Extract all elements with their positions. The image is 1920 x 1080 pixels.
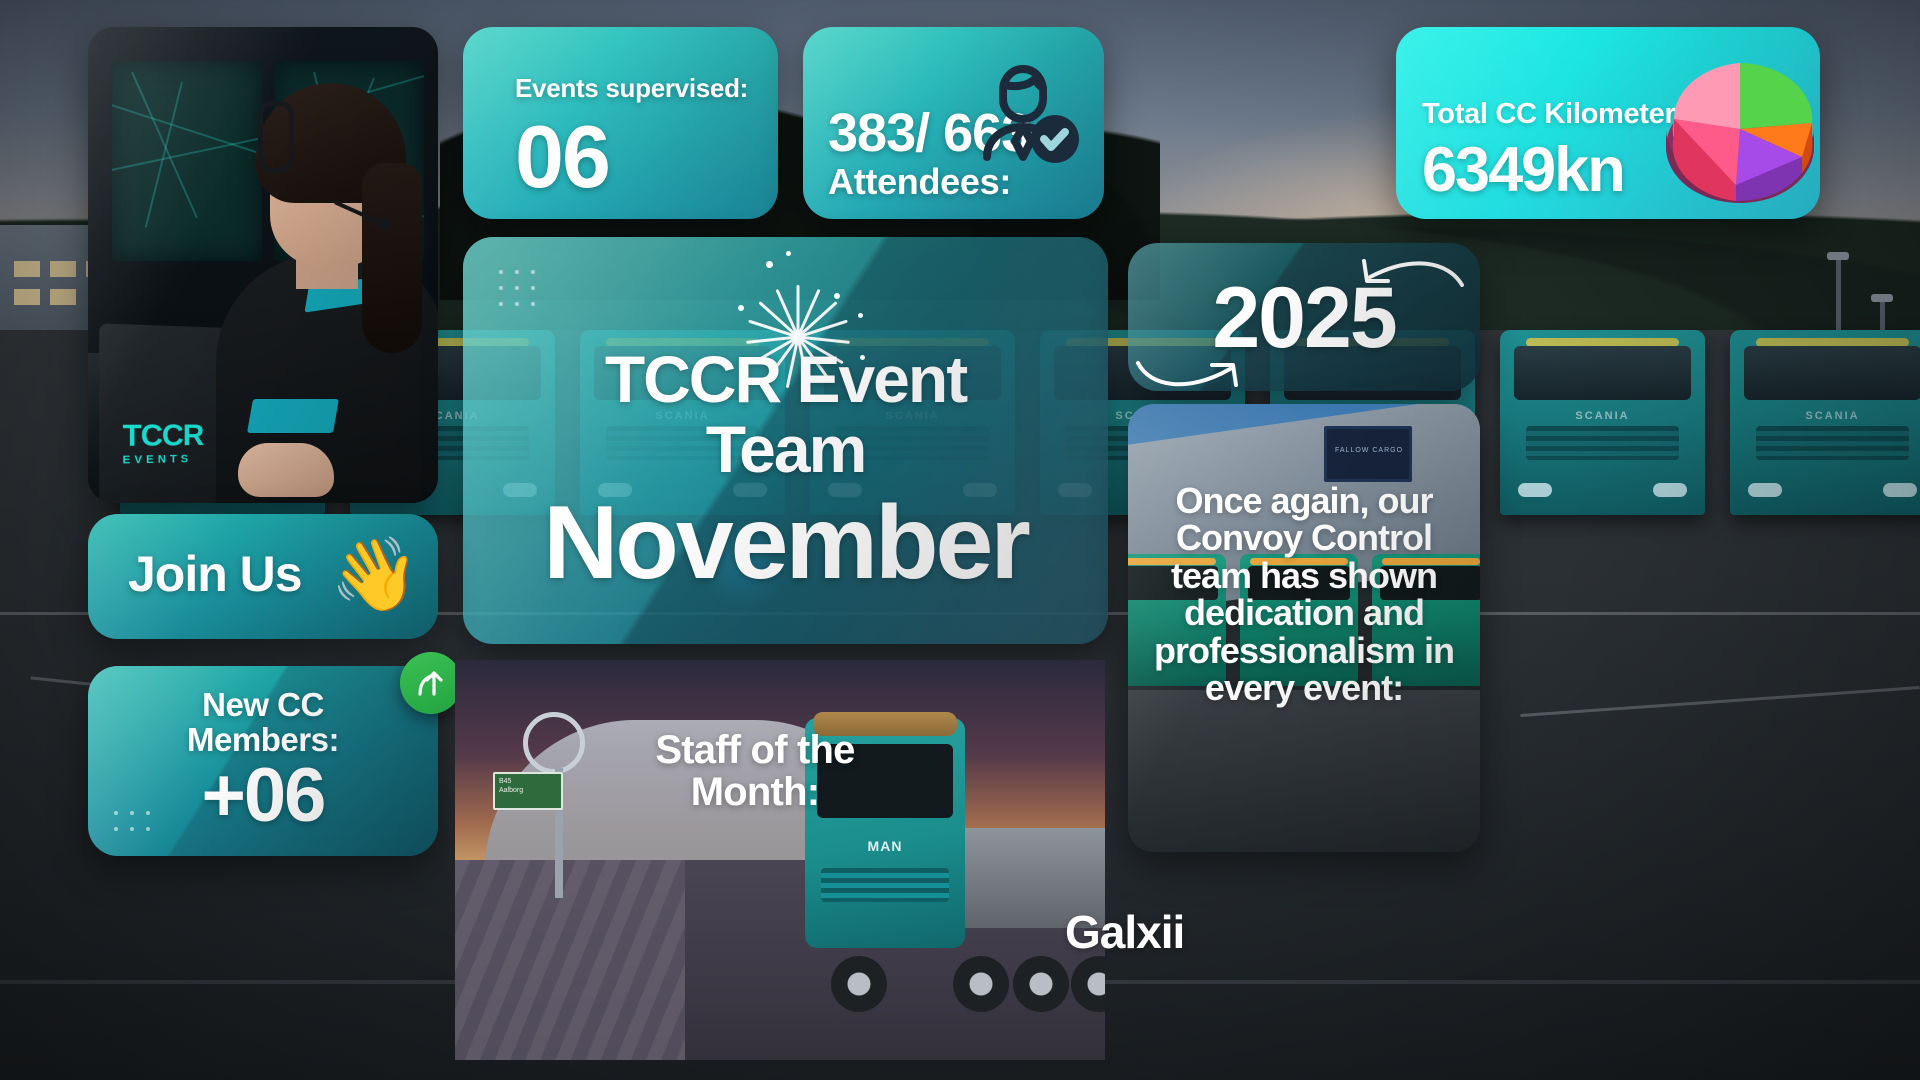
total-kilometers-card[interactable]: Total CC Kilometers: 6349kn (1396, 27, 1820, 219)
convoy-control-quote-card[interactable]: FALLOW CARGO Once again, our Convoy Cont… (1128, 404, 1480, 852)
hero-title-card[interactable]: TCCR Event Team November (463, 237, 1108, 644)
kilometers-value: 6349kn (1422, 137, 1624, 203)
staff-of-month-label-line-2: Month: (555, 772, 955, 813)
headset-icon (258, 101, 294, 173)
staff-of-month-name: Galxii (1065, 908, 1365, 956)
hero-month: November (463, 489, 1108, 598)
tccr-logo-subtext: EVENTS (123, 453, 204, 467)
hero-title-line-2: Team (463, 415, 1108, 484)
hero-title-line-1: TCCR Event (463, 345, 1108, 414)
join-us-card[interactable]: Join Us 👋 (88, 514, 438, 639)
events-supervised-card[interactable]: Events supervised: 06 (463, 27, 778, 219)
tccr-logo-text: TCCR (123, 419, 204, 453)
year-card[interactable]: 2025 (1128, 243, 1480, 391)
staff-of-the-month-photo: B45Aalborg MAN (455, 660, 1105, 1060)
attendees-label: Attendees: (828, 163, 1011, 201)
join-us-label: Join Us (128, 548, 302, 601)
operator-photo-card: TCCR EVENTS (88, 27, 438, 503)
pie-chart-icon (1644, 39, 1820, 219)
billboard: FALLOW CARGO (1324, 426, 1412, 482)
new-members-value: +06 (88, 756, 438, 836)
road-sign: B45Aalborg (493, 772, 563, 810)
new-members-label-line-1: New CC (88, 688, 438, 723)
attendees-card[interactable]: 383/ 663 Attendees: (803, 27, 1104, 219)
new-cc-members-card[interactable]: New CC Members: +06 (88, 666, 438, 856)
drag-handle-dots[interactable] (499, 270, 538, 309)
billboard-text: FALLOW CARGO (1335, 447, 1403, 454)
convoy-control-operator (212, 43, 438, 503)
events-supervised-value: 06 (515, 111, 609, 203)
arrow-up-curve-icon[interactable] (400, 652, 462, 714)
quote-text: Once again, our Convoy Control team has … (1138, 482, 1470, 707)
attendees-value: 383/ 663 (828, 105, 1030, 162)
tccr-logo: TCCR EVENTS (123, 419, 204, 467)
events-supervised-label: Events supervised: (515, 75, 748, 102)
year-value: 2025 (1128, 273, 1480, 363)
staff-of-month-label-line-1: Staff of the (555, 730, 955, 771)
poster-canvas: SCANIA SCANIA SCANIA SCANIA SCANIA SCANI… (0, 0, 1920, 1080)
waving-hand-icon: 👋 (330, 538, 420, 610)
